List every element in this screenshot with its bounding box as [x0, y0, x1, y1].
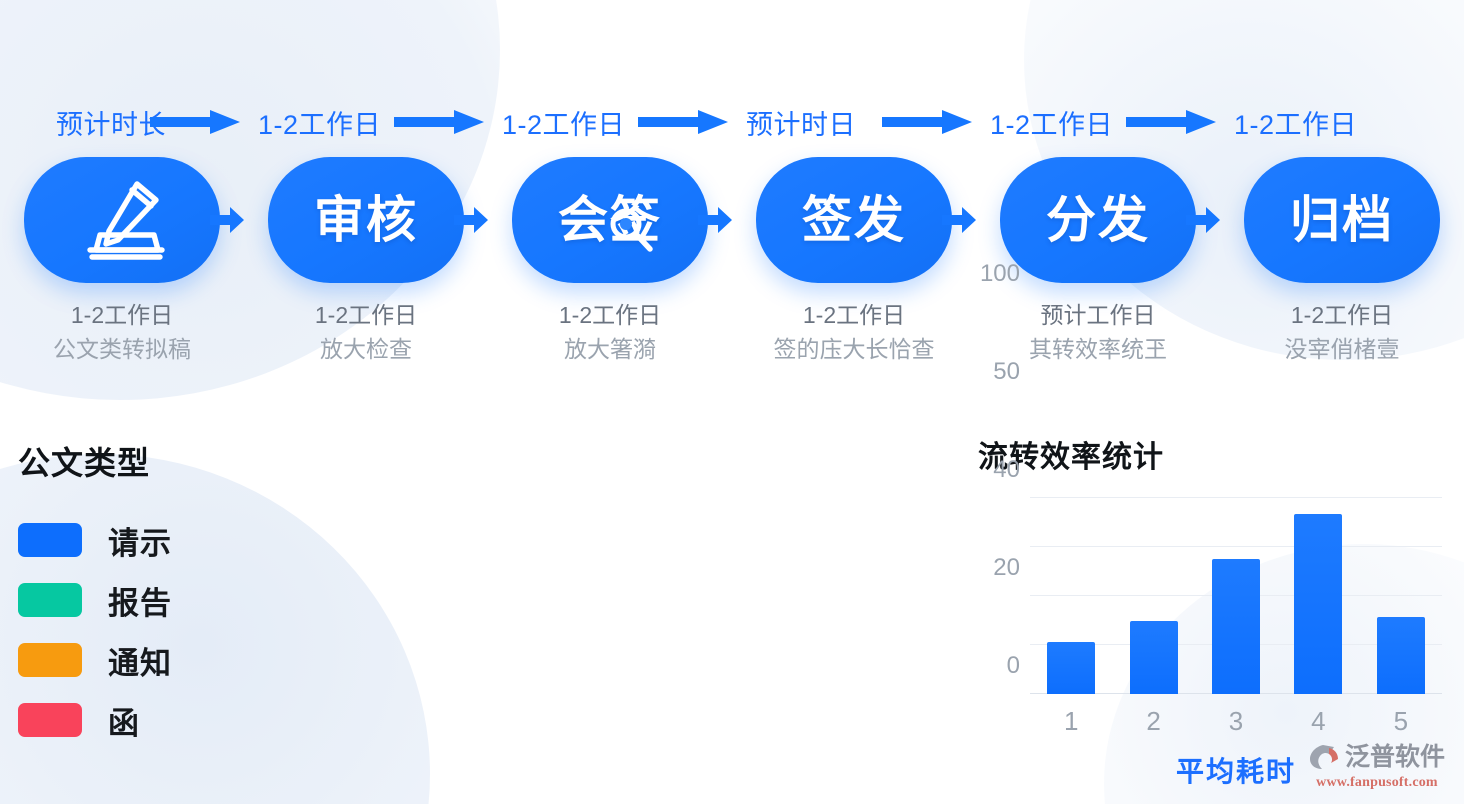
flow-caption: 1-2工作日 放大检查 — [244, 298, 488, 366]
timeline-label: 预计时日 — [732, 103, 856, 142]
flow-node-2[interactable]: 审核 — [244, 155, 488, 285]
legend-item-tongzhi[interactable]: 通知 — [18, 630, 348, 690]
legend-item-label: 函 — [108, 698, 140, 743]
legend-swatch — [18, 643, 82, 677]
flow-node-pill[interactable]: 归档 — [1244, 157, 1440, 283]
timeline-cell: 1-2工作日 — [976, 98, 1220, 146]
watermark-url: www.fanpusoft.com — [1316, 775, 1438, 791]
fanpu-logo-icon — [1309, 743, 1339, 771]
watermark-brand: 泛普软件 — [1345, 745, 1445, 770]
timeline-cell: 1-2工作日 — [1220, 98, 1464, 146]
flow-node-3[interactable]: 会签 — [488, 155, 732, 285]
flow-caption-desc: 没宰俏楮壹 — [1226, 332, 1458, 366]
timeline-label: 1-2工作日 — [976, 103, 1113, 142]
legend-item-label: 请示 — [108, 518, 172, 563]
node-arrow-right-icon — [208, 205, 246, 235]
flow-node-1[interactable] — [0, 155, 244, 285]
chart-x-tick-label: 2 — [1146, 706, 1160, 737]
flow-caption-duration: 1-2工作日 — [1226, 298, 1458, 332]
flow-caption-desc: 放大检查 — [250, 332, 482, 366]
flow-node-pill[interactable]: 签发 — [756, 157, 952, 283]
long-arrow-right-icon — [150, 109, 240, 135]
timeline-label: 1-2工作日 — [244, 103, 381, 142]
timeline-cell: 1-2工作日 — [244, 98, 488, 146]
watermark: 泛普软件 www.fanpusoft.com — [1302, 738, 1452, 796]
legend-item-label: 报告 — [108, 578, 172, 623]
flow-caption: 1-2工作日 签的庒大长恰查 — [732, 298, 976, 366]
chart-x-tick-label: 5 — [1394, 706, 1408, 737]
legend-panel: 公文类型 请示 报告 通知 函 — [18, 438, 348, 750]
chart-x-tick-label: 1 — [1064, 706, 1078, 737]
flow-caption: 1-2工作日 公文类转拟稿 — [0, 298, 244, 366]
flow-caption-duration: 1-2工作日 — [494, 298, 726, 332]
chart-bar[interactable] — [1212, 559, 1260, 694]
flow-node-title: 分发 — [1046, 195, 1150, 245]
legend-item-han[interactable]: 函 — [18, 690, 348, 750]
flow-caption-duration: 预计工作日 — [982, 298, 1214, 332]
node-arrow-right-icon — [1184, 205, 1222, 235]
flow-node-title: 审核 — [314, 195, 418, 245]
flow-node-title: 归档 — [1290, 195, 1394, 245]
flow-caption-desc: 放大箸漪 — [494, 332, 726, 366]
timeline-row: 预计时长 1-2工作日 1-2工作日 预计时日 1-2工作日 — [0, 98, 1464, 146]
chart-bar[interactable] — [1377, 617, 1425, 694]
chart-bar[interactable] — [1294, 514, 1342, 694]
legend-swatch — [18, 703, 82, 737]
chart-x-tick-label: 4 — [1311, 706, 1325, 737]
long-arrow-right-icon — [882, 109, 972, 135]
timeline-label: 预计时长 — [0, 103, 166, 142]
flow-node-6[interactable]: 归档 — [1220, 155, 1464, 285]
flow-node-title: 签发 — [802, 195, 906, 245]
flow-node-4[interactable]: 签发 — [732, 155, 976, 285]
timeline-cell: 1-2工作日 — [488, 98, 732, 146]
flow-caption-row: 1-2工作日 公文类转拟稿 1-2工作日 放大检查 1-2工作日 放大箸漪 1-… — [0, 298, 1464, 366]
legend-item-baogao[interactable]: 报告 — [18, 570, 348, 630]
chart-x-axis-labels: 12345 — [1030, 706, 1442, 740]
timeline-cell: 预计时日 — [732, 98, 976, 146]
flow-caption-duration: 1-2工作日 — [6, 298, 238, 332]
legend-swatch — [18, 523, 82, 557]
legend-swatch — [18, 583, 82, 617]
flow-node-pill[interactable] — [24, 157, 220, 283]
flow-node-pill[interactable]: 审核 — [268, 157, 464, 283]
flow-caption-duration: 1-2工作日 — [738, 298, 970, 332]
node-arrow-right-icon — [696, 205, 734, 235]
flow-node-pill[interactable]: 分发 — [1000, 157, 1196, 283]
flow-node-row: 审核 会签 签发 — [0, 155, 1464, 285]
chart-plot-area: 1005040200 — [1030, 498, 1442, 694]
flow-caption: 预计工作日 其转效率统玊 — [976, 298, 1220, 366]
chart-bar[interactable] — [1130, 621, 1178, 694]
slide-canvas: 预计时长 1-2工作日 1-2工作日 预计时日 1-2工作日 — [0, 0, 1464, 804]
chart-title: 流转效率统计 — [978, 432, 1448, 476]
flow-caption-duration: 1-2工作日 — [250, 298, 482, 332]
chart-y-tick-label: 40 — [993, 456, 1020, 484]
legend-item-qingshi[interactable]: 请示 — [18, 510, 348, 570]
flow-caption-desc: 公文类转拟稿 — [6, 332, 238, 366]
legend-title: 公文类型 — [18, 438, 348, 484]
legend-item-label: 通知 — [108, 638, 172, 683]
timeline-cell: 预计时长 — [0, 98, 244, 146]
long-arrow-right-icon — [638, 109, 728, 135]
chart-x-tick-label: 3 — [1229, 706, 1243, 737]
chart-y-tick-label: 0 — [1007, 652, 1020, 680]
flow-node-pill[interactable]: 会签 — [512, 157, 708, 283]
chart-y-tick-label: 50 — [993, 358, 1020, 386]
chart-gridline: 100 — [1030, 497, 1442, 498]
pen-writing-on-pad-icon — [70, 178, 174, 262]
timeline-label: 1-2工作日 — [488, 103, 625, 142]
timeline-label: 1-2工作日 — [1220, 103, 1357, 142]
flow-caption: 1-2工作日 没宰俏楮壹 — [1220, 298, 1464, 366]
chart-y-tick-label: 20 — [993, 554, 1020, 582]
node-arrow-right-icon — [452, 205, 490, 235]
long-arrow-right-icon — [1126, 109, 1216, 135]
flow-node-title: 会签 — [558, 195, 662, 245]
watermark-brand-row: 泛普软件 — [1309, 743, 1445, 771]
flow-caption: 1-2工作日 放大箸漪 — [488, 298, 732, 366]
chart-bar[interactable] — [1047, 642, 1095, 694]
chart-gridline: 50 — [1030, 546, 1442, 547]
node-arrow-right-icon — [940, 205, 978, 235]
flow-caption-desc: 签的庒大长恰查 — [738, 332, 970, 366]
chart-y-tick-label: 100 — [980, 260, 1020, 288]
long-arrow-right-icon — [394, 109, 484, 135]
